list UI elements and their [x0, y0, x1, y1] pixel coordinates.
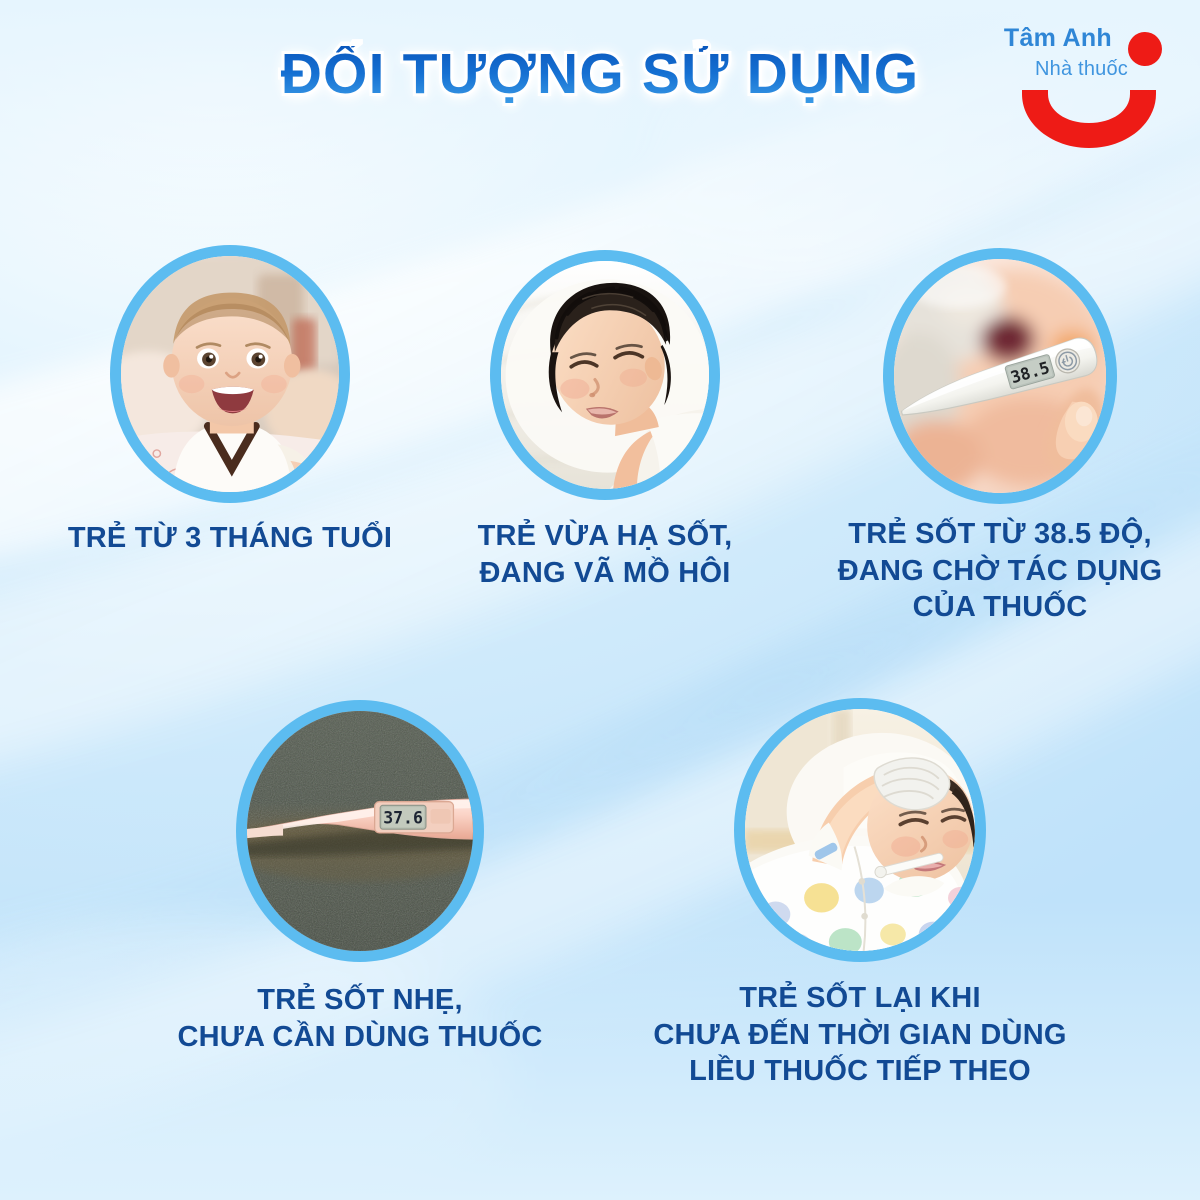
caption-card-3: TRẺ SỐT TỪ 38.5 ĐỘ, ĐANG CHỜ TÁC DỤNG CỦ…: [838, 516, 1163, 626]
red-dot-icon: [1128, 32, 1162, 66]
header: ĐỐI TƯỢNG SỬ DỤNG ĐỐI TƯỢNG SỬ DỤNG Tâm …: [0, 0, 1200, 160]
caption-card-2: TRẺ VỪA HẠ SỐT, ĐANG VÃ MỒ HÔI: [478, 518, 733, 591]
content-grid: TRẺ TỪ 3 THÁNG TUỔI: [0, 0, 1200, 1200]
caption-line: TRẺ SỐT TỪ 38.5 ĐỘ,: [838, 516, 1163, 553]
caption-line: CHƯA CẦN DÙNG THUỐC: [177, 1019, 542, 1056]
caption-line: CHƯA ĐẾN THỜI GIAN DÙNG: [653, 1017, 1066, 1054]
caption-line: TRẺ TỪ 3 THÁNG TUỔI: [68, 520, 392, 557]
caption-line: TRẺ SỐT NHẸ,: [177, 982, 542, 1019]
brand-subtitle: Nhà thuốc: [1035, 58, 1128, 81]
caption-card-4: TRẺ SỐT NHẸ, CHƯA CẦN DÙNG THUỐC: [177, 982, 542, 1055]
caption-line: CỦA THUỐC: [838, 589, 1163, 626]
photo-sleeping-child-sweating[interactable]: [490, 250, 720, 500]
photo-thermometer-38-5[interactable]: 38.5: [883, 248, 1117, 504]
photo-thermometer-37-6[interactable]: 37.6: [236, 700, 484, 962]
caption-line: TRẺ VỪA HẠ SỐT,: [478, 518, 733, 555]
caption-line: TRẺ SỐT LẠI KHI: [653, 980, 1066, 1017]
caption-card-5: TRẺ SỐT LẠI KHI CHƯA ĐẾN THỜI GIAN DÙNG …: [653, 980, 1066, 1090]
red-smile-icon: [1014, 90, 1164, 152]
brand-logo[interactable]: Tâm Anh Nhà thuốc: [1000, 18, 1172, 150]
caption-line: ĐANG CHỜ TÁC DỤNG: [838, 553, 1163, 590]
thermometer-reading-value: 37.6: [383, 809, 423, 828]
caption-card-1: TRẺ TỪ 3 THÁNG TUỔI: [68, 520, 392, 557]
photo-smiling-baby[interactable]: [110, 245, 350, 503]
caption-line: ĐANG VÃ MỒ HÔI: [478, 555, 733, 592]
brand-name: Tâm Anh: [1004, 24, 1112, 53]
caption-line: LIỀU THUỐC TIẾP THEO: [653, 1053, 1066, 1090]
photo-sick-child-in-bed[interactable]: [734, 698, 986, 962]
